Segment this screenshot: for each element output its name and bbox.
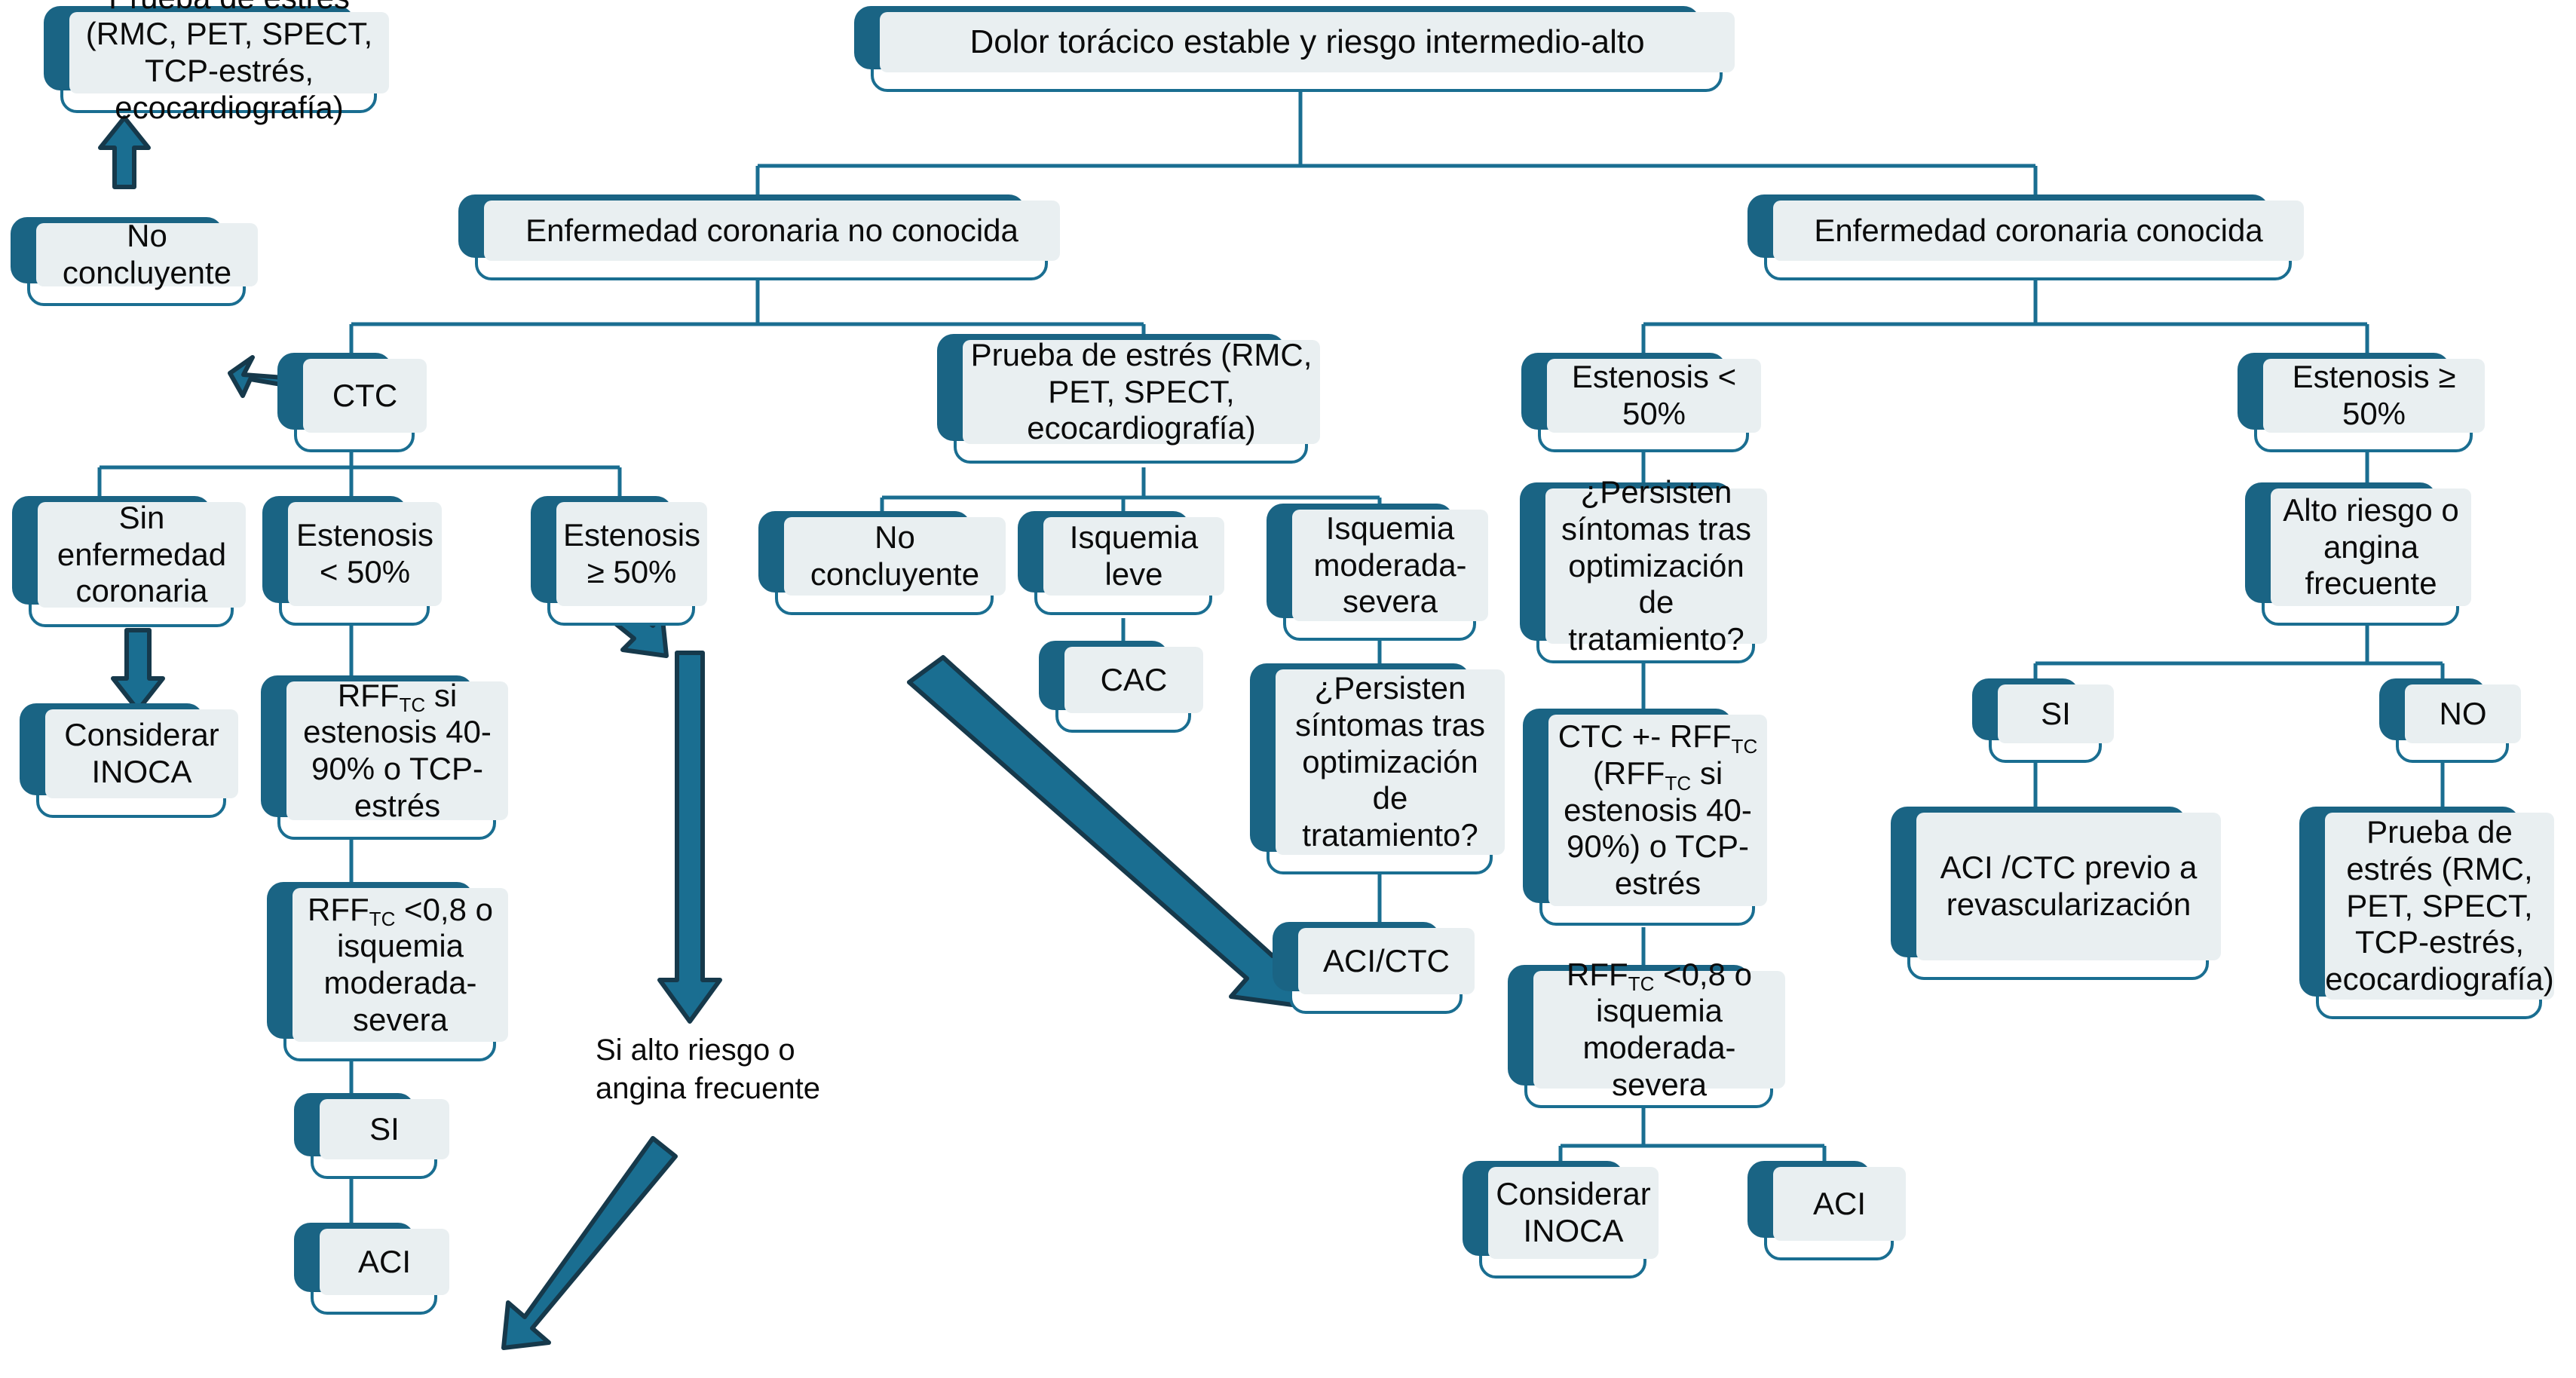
node-label: ¿Persisten síntomas tras optimización de…: [1283, 670, 1497, 854]
node-ctc-mas-menos-rff[interactable]: CTC +- RFFTC (RFFTC si estenosis 40-90%)…: [1539, 725, 1755, 926]
node-label: Estenosis ≥ 50%: [2271, 359, 2477, 432]
node-label: Prueba de estrés (RMC, PET, SPECT, TCP-e…: [77, 0, 381, 126]
node-prueba-estres-medio[interactable]: Prueba de estrés (RMC, PET, SPECT, ecoca…: [954, 351, 1308, 464]
node-aci-ctc-previo-revascularizacion[interactable]: ACI /CTC previo a revascularización: [1907, 823, 2209, 980]
node-body: No concluyente: [784, 517, 1006, 596]
node-label: Sin enfermedad coronaria: [45, 500, 238, 610]
node-aci-izquierda[interactable]: ACI: [311, 1239, 437, 1315]
node-body: ACI: [1773, 1167, 1906, 1241]
node-body: Estenosis ≥ 50%: [2263, 359, 2485, 433]
node-body: RFFTC <0,8 o isquemia moderada-severa: [1533, 971, 1785, 1089]
node-label: Enfermedad coronaria no conocida: [525, 213, 1018, 250]
node-body: CTC +- RFFTC (RFFTC si estenosis 40-90%)…: [1548, 715, 1767, 906]
node-label: SI: [2041, 696, 2071, 733]
node-label: Estenosis ≥ 50%: [563, 517, 700, 590]
node-body: Enfermedad coronaria no conocida: [484, 201, 1060, 261]
node-label: Enfermedad coronaria conocida: [1814, 213, 2262, 250]
node-no-concluyente-medio[interactable]: No concluyente: [775, 528, 994, 615]
node-body: Estenosis < 50%: [1547, 359, 1761, 433]
node-label: Considerar INOCA: [1496, 1176, 1651, 1249]
node-label: NO: [2440, 696, 2487, 733]
node-estenosis-mayor-50-derecha[interactable]: Estenosis ≥ 50%: [2254, 369, 2473, 452]
node-label: ACI/CTC: [1323, 943, 1450, 980]
node-body: SI: [320, 1099, 449, 1159]
node-body: RFFTC <0,8 o isquemia moderada-severa: [293, 888, 508, 1042]
node-body: Estenosis ≥ 50%: [556, 502, 707, 606]
node-considerar-inoca-derecha[interactable]: Considerar INOCA: [1479, 1177, 1646, 1278]
arrow-si-alto-riesgo-to-aci: [504, 1138, 675, 1348]
node-body: CAC: [1064, 647, 1203, 713]
node-body: Prueba de estrés (RMC, PET, SPECT, TCP-e…: [69, 12, 389, 93]
node-label: ACI: [358, 1244, 411, 1281]
node-cac[interactable]: CAC: [1055, 657, 1191, 733]
node-body: RFFTC si estenosis 40-90% o TCP-estrés: [286, 681, 508, 820]
node-body: Alto riesgo o angina frecuente: [2271, 488, 2471, 606]
node-rff-si-estenosis-40-90[interactable]: RFFTC si estenosis 40-90% o TCP-estrés: [277, 692, 496, 840]
arrow-sin-enfermedad-to-inoca: [113, 630, 163, 710]
node-label: SI: [369, 1111, 400, 1148]
node-alto-riesgo-o-angina-frecuente[interactable]: Alto riesgo o angina frecuente: [2262, 499, 2459, 626]
arrow-long-down-si-alto-riesgo: [660, 653, 720, 1021]
node-body: ACI/CTC: [1298, 928, 1475, 994]
node-label: No concluyente: [792, 519, 998, 593]
node-prueba-estres-final[interactable]: Prueba de estrés (RMC, PET, SPECT, TCP-e…: [2316, 823, 2542, 1019]
node-body: Considerar INOCA: [1488, 1167, 1659, 1259]
node-isquemia-leve[interactable]: Isquemia leve: [1034, 528, 1212, 615]
node-body: ¿Persisten síntomas tras optimización de…: [1276, 669, 1505, 855]
node-label: CAC: [1101, 662, 1168, 699]
node-aci-derecha[interactable]: ACI: [1764, 1177, 1894, 1260]
node-label: Prueba de estrés (RMC, PET, SPECT, TCP-e…: [2325, 814, 2554, 998]
node-persisten-sintomas-medio[interactable]: ¿Persisten síntomas tras optimización de…: [1267, 680, 1493, 874]
node-ctc[interactable]: CTC: [294, 369, 415, 452]
node-body: NO: [2405, 684, 2521, 743]
node-label: CTC: [332, 378, 397, 415]
node-label: Estenosis < 50%: [1554, 359, 1754, 432]
node-estenosis-mayor-50-izquierda[interactable]: Estenosis ≥ 50%: [547, 513, 695, 626]
node-isquemia-moderada-severa[interactable]: Isquemia moderada-severa: [1283, 520, 1476, 641]
node-label: ACI /CTC previo a revascularización: [1924, 850, 2213, 923]
node-label: Alto riesgo o angina frecuente: [2278, 492, 2464, 602]
node-considerar-inoca-izquierda[interactable]: Considerar INOCA: [36, 720, 226, 818]
node-body: Dolor torácico estable y riesgo intermed…: [880, 12, 1735, 72]
node-root-dolor-toracico[interactable]: Dolor torácico estable y riesgo intermed…: [871, 23, 1723, 92]
node-persisten-sintomas-derecha[interactable]: ¿Persisten síntomas tras optimización de…: [1536, 499, 1755, 663]
node-body: Estenosis < 50%: [288, 502, 442, 606]
node-body: ACI: [320, 1229, 449, 1295]
node-label: Dolor torácico estable y riesgo intermed…: [969, 23, 1644, 61]
node-label: CTC +- RFFTC (RFFTC si estenosis 40-90%)…: [1556, 718, 1760, 902]
node-label: Isquemia leve: [1051, 519, 1217, 593]
node-body: Sin enfermedad coronaria: [38, 502, 246, 608]
node-estenosis-menor-50-derecha[interactable]: Estenosis < 50%: [1538, 369, 1749, 452]
node-body: No concluyente: [36, 223, 258, 286]
node-label: Isquemia moderada-severa: [1300, 510, 1481, 620]
arrow-no-concluyente-to-prueba-estres: [100, 118, 149, 187]
node-body: ¿Persisten síntomas tras optimización de…: [1545, 488, 1767, 644]
node-label: ¿Persisten síntomas tras optimización de…: [1553, 474, 1760, 658]
node-rff-menor-08-izquierda[interactable]: RFFTC <0,8 o isquemia moderada-severa: [283, 899, 496, 1061]
flowchart-canvas: Prueba de estrés (RMC, PET, SPECT, TCP-e…: [0, 0, 2576, 1378]
node-no-concluyente-izquierda[interactable]: No concluyente: [27, 234, 246, 306]
node-enfermedad-coronaria-no-conocida[interactable]: Enfermedad coronaria no conocida: [475, 211, 1048, 280]
node-label: RFFTC si estenosis 40-90% o TCP-estrés: [294, 678, 501, 825]
node-prueba-estres-top-izquierda[interactable]: Prueba de estrés (RMC, PET, SPECT, TCP-e…: [60, 23, 377, 113]
node-no-derecha[interactable]: NO: [2396, 695, 2509, 763]
node-enfermedad-coronaria-conocida[interactable]: Enfermedad coronaria conocida: [1764, 211, 2292, 280]
node-label: Prueba de estrés (RMC, PET, SPECT, ecoca…: [970, 337, 1313, 447]
node-rff-menor-08-derecha[interactable]: RFFTC <0,8 o isquemia moderada-severa: [1524, 981, 1773, 1108]
node-body: Isquemia leve: [1043, 517, 1224, 596]
node-label: Estenosis < 50%: [296, 517, 434, 590]
node-body: SI: [1998, 684, 2114, 743]
node-body: Prueba de estrés (RMC, PET, SPECT, ecoca…: [963, 340, 1320, 444]
node-sin-enfermedad-coronaria[interactable]: Sin enfermedad coronaria: [29, 513, 234, 627]
node-body: Enfermedad coronaria conocida: [1773, 201, 2304, 261]
node-label: Considerar INOCA: [53, 717, 231, 790]
node-label: RFFTC <0,8 o isquemia moderada-severa: [1541, 957, 1778, 1104]
label-si-alto-riesgo-o-angina-frecuente: Si alto riesgo o angina frecuente: [596, 1031, 822, 1108]
node-body: CTC: [303, 359, 427, 433]
node-si-izquierda[interactable]: SI: [311, 1110, 437, 1179]
node-body: ACI /CTC previo a revascularización: [1916, 813, 2221, 960]
node-body: Considerar INOCA: [45, 709, 238, 798]
node-label: No concluyente: [44, 218, 250, 291]
node-estenosis-menor-50-izquierda[interactable]: Estenosis < 50%: [279, 513, 430, 626]
node-label: RFFTC <0,8 o isquemia moderada-severa: [300, 892, 501, 1039]
node-body: Prueba de estrés (RMC, PET, SPECT, TCP-e…: [2325, 813, 2554, 1000]
node-aci-ctc[interactable]: ACI/CTC: [1289, 939, 1463, 1014]
node-si-derecha[interactable]: SI: [1989, 695, 2102, 763]
node-label: ACI: [1813, 1186, 1866, 1223]
node-body: Isquemia moderada-severa: [1292, 510, 1488, 621]
